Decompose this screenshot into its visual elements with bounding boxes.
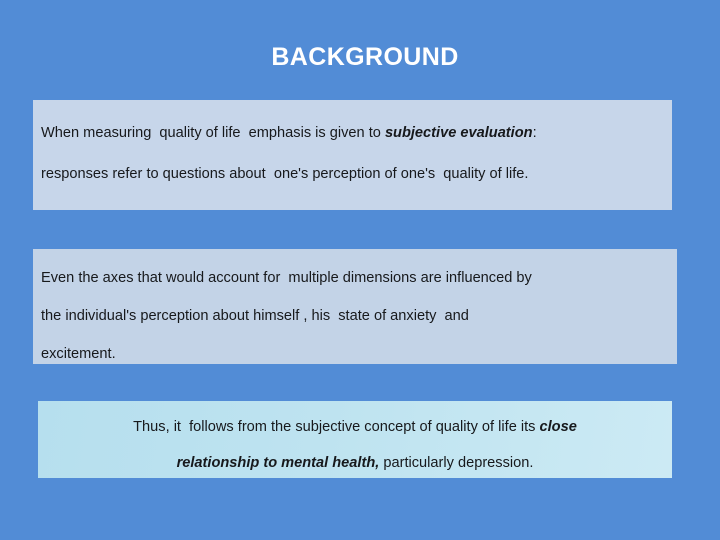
text-line: excitement. [41, 335, 670, 373]
emphasised-text: relationship to mental health, [177, 455, 380, 471]
body-text: Even the axes that would account for mul… [41, 270, 532, 286]
text-line: Even the axes that would account for mul… [41, 259, 670, 297]
emphasised-text: close [540, 419, 577, 435]
body-text: responses refer to questions about one's… [41, 166, 528, 182]
text-line: Thus, it follows from the subjective con… [48, 409, 662, 445]
text-line: the individual's perception about himsel… [41, 297, 670, 335]
background-text-box-3[interactable]: Thus, it follows from the subjective con… [38, 401, 672, 478]
body-text: When measuring quality of life emphasis … [41, 125, 385, 141]
body-text: the individual's perception about himsel… [41, 308, 469, 324]
background-text-box-1[interactable]: When measuring quality of life emphasis … [33, 100, 672, 210]
body-text: Thus, it follows from the subjective con… [133, 419, 539, 435]
background-text-box-2[interactable]: Even the axes that would account for mul… [33, 249, 677, 364]
body-text: particularly depression. [379, 455, 533, 471]
text-line: relationship to mental health, particula… [48, 445, 662, 481]
text-line: responses refer to questions about one's… [41, 154, 658, 195]
text-line: When measuring quality of life emphasis … [41, 113, 658, 154]
body-text: : [533, 125, 537, 141]
page-title: BACKGROUND [0, 42, 720, 72]
slide-canvas: BACKGROUND When measuring quality of lif… [0, 0, 720, 540]
body-text: excitement. [41, 346, 116, 362]
emphasised-text: subjective evaluation [385, 125, 533, 141]
